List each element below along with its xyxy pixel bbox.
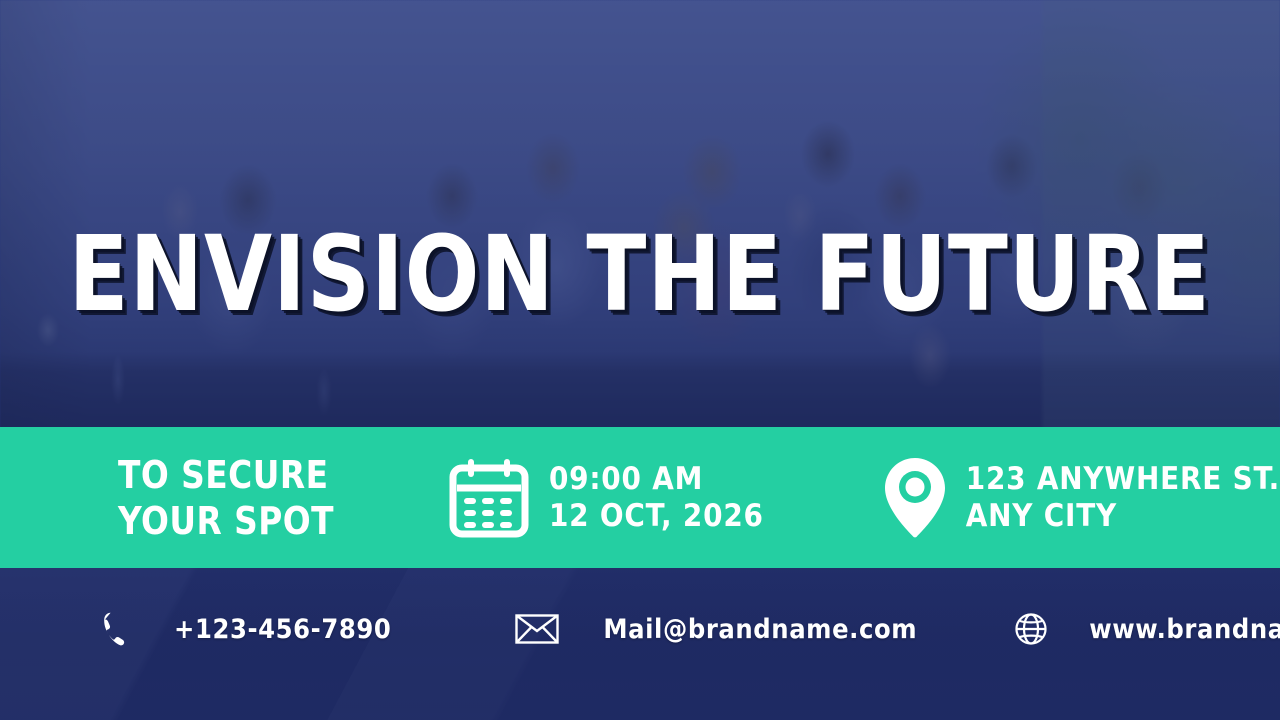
contact-phone[interactable]: +123-456-7890 — [102, 612, 391, 646]
cta-line-1: TO SECURE — [118, 452, 384, 498]
contact-bar: +123-456-7890 Mail@brandname.com — [0, 598, 1280, 660]
event-details-band: TO SECURE YOUR SPOT — [0, 427, 1280, 568]
address-line-1: 123 ANYWHERE ST. — [966, 461, 1280, 498]
banner-headline: ENVISION THE FUTURE — [69, 222, 1211, 326]
website-url: www.brandname.com — [1089, 614, 1280, 645]
cta-text: TO SECURE YOUR SPOT — [118, 452, 384, 544]
calendar-icon — [449, 458, 529, 538]
date-time-block: 09:00 AM 12 OCT, 2026 — [449, 458, 764, 538]
event-date: 12 OCT, 2026 — [549, 498, 764, 535]
location-block: 123 ANYWHERE ST. ANY CITY — [884, 457, 1280, 539]
date-time-text: 09:00 AM 12 OCT, 2026 — [549, 461, 764, 535]
map-pin-icon — [884, 457, 946, 539]
email-address: Mail@brandname.com — [603, 614, 917, 645]
contact-website[interactable]: www.brandname.com — [1015, 613, 1280, 645]
phone-number: +123-456-7890 — [174, 614, 391, 645]
event-banner: ENVISION THE FUTURE TO SECURE YOUR SPOT — [0, 0, 1280, 720]
address-line-2: ANY CITY — [966, 498, 1280, 535]
event-time: 09:00 AM — [549, 461, 764, 498]
cta-line-2: YOUR SPOT — [118, 498, 384, 544]
globe-icon — [1015, 613, 1047, 645]
headline-container: ENVISION THE FUTURE — [0, 222, 1280, 326]
mail-icon — [515, 614, 559, 644]
contact-email[interactable]: Mail@brandname.com — [515, 614, 917, 645]
location-text: 123 ANYWHERE ST. ANY CITY — [966, 461, 1280, 535]
phone-icon — [102, 612, 126, 646]
